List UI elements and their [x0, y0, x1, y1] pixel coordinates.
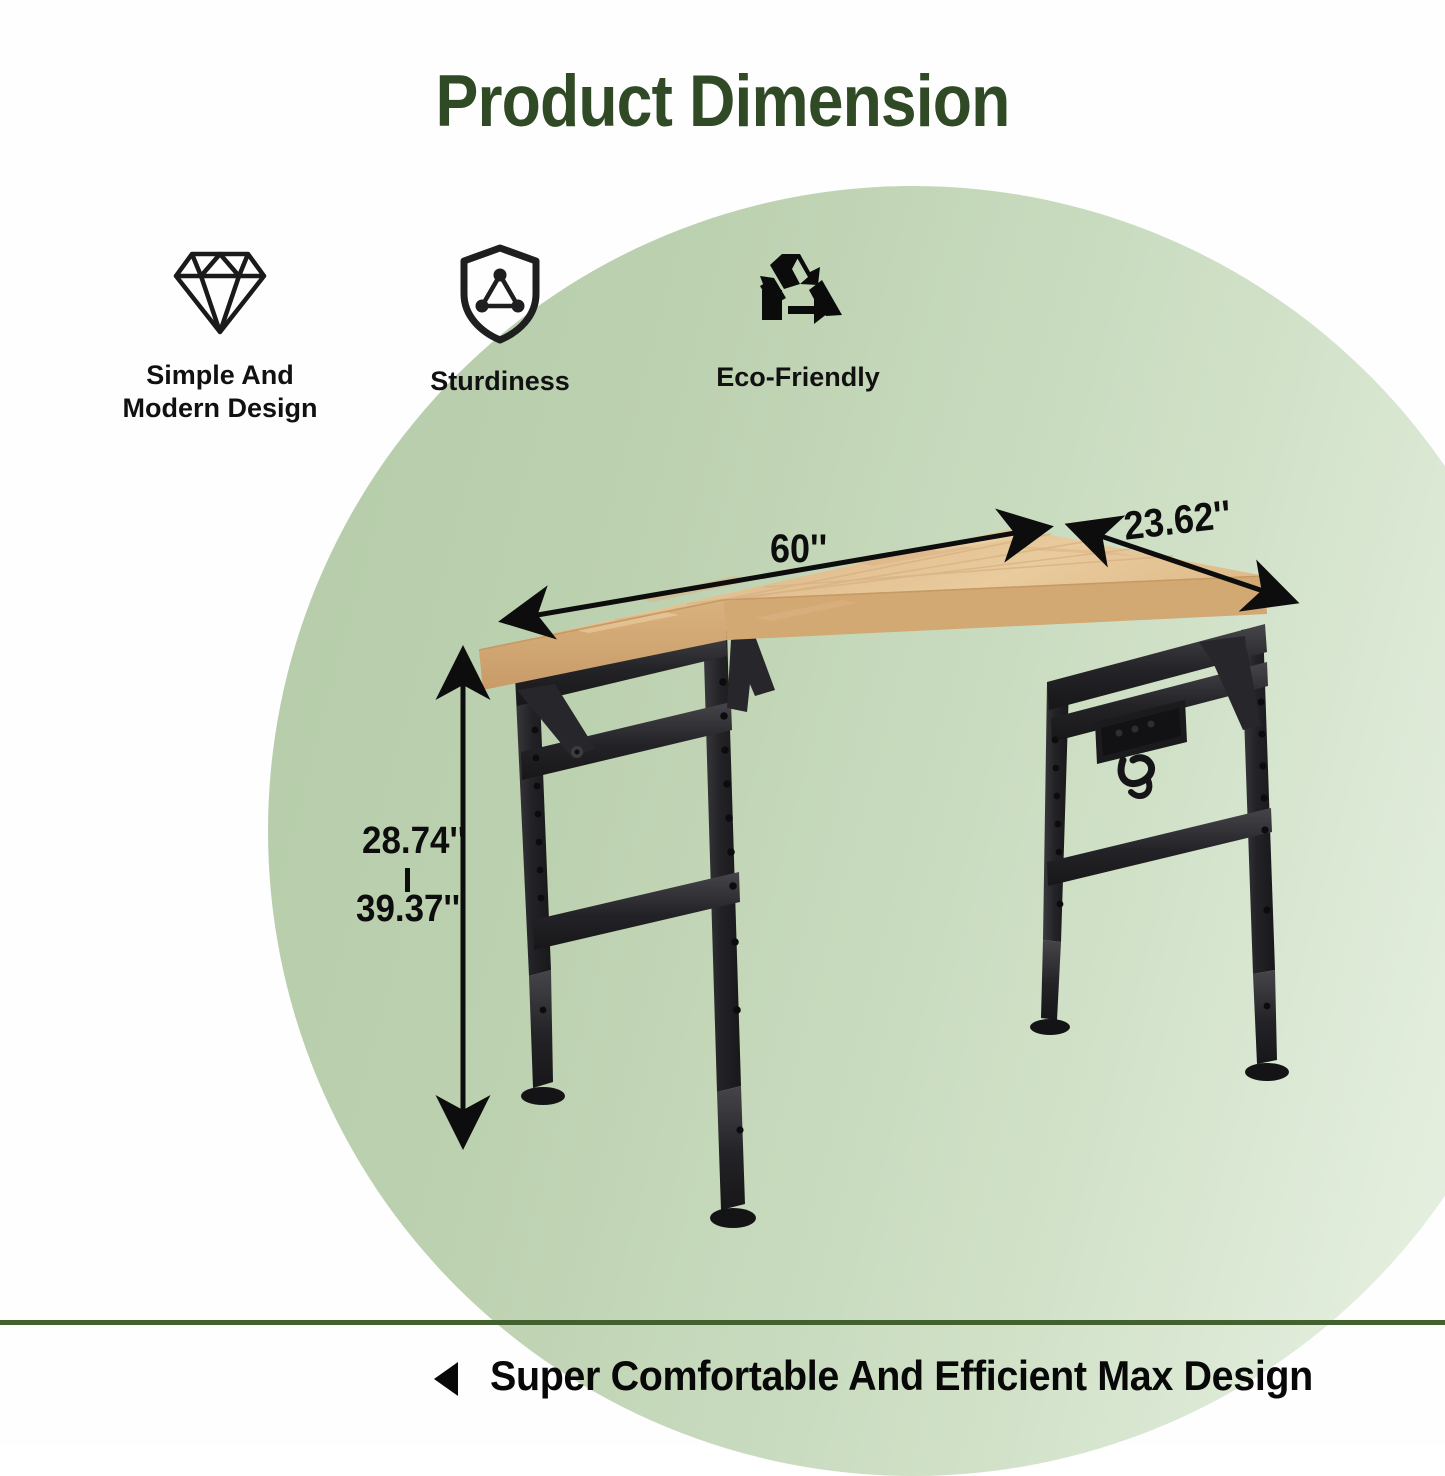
feature-sturdiness: Sturdiness — [386, 244, 614, 398]
footer-tagline: Super Comfortable And Efficient Max Desi… — [490, 1352, 1313, 1400]
left-leg-assembly — [515, 626, 775, 1228]
diamond-icon — [80, 246, 360, 343]
page-title: Product Dimension — [87, 60, 1359, 143]
length-dimension-label: 60'' — [770, 527, 827, 572]
feature-label: Eco-Friendly — [716, 362, 880, 392]
height-min-label: 28.74'' — [362, 820, 466, 863]
feature-eco-friendly: Eco-Friendly — [668, 248, 928, 394]
feature-simple-and-modern-design: Simple And Modern Design — [80, 246, 360, 425]
workbench-illustration — [455, 490, 1325, 1230]
left-triangle-icon — [434, 1362, 458, 1396]
feature-label: Simple And Modern Design — [122, 360, 317, 423]
recycle-icon — [668, 248, 928, 345]
shield-icon — [386, 244, 614, 349]
infographic-canvas: Product Dimension Simple And Modern Desi… — [0, 0, 1445, 1445]
footer-divider — [0, 1320, 1445, 1325]
feature-label: Sturdiness — [430, 366, 570, 396]
height-max-label: 39.37'' — [356, 888, 460, 931]
right-leg-assembly — [1030, 624, 1289, 1081]
